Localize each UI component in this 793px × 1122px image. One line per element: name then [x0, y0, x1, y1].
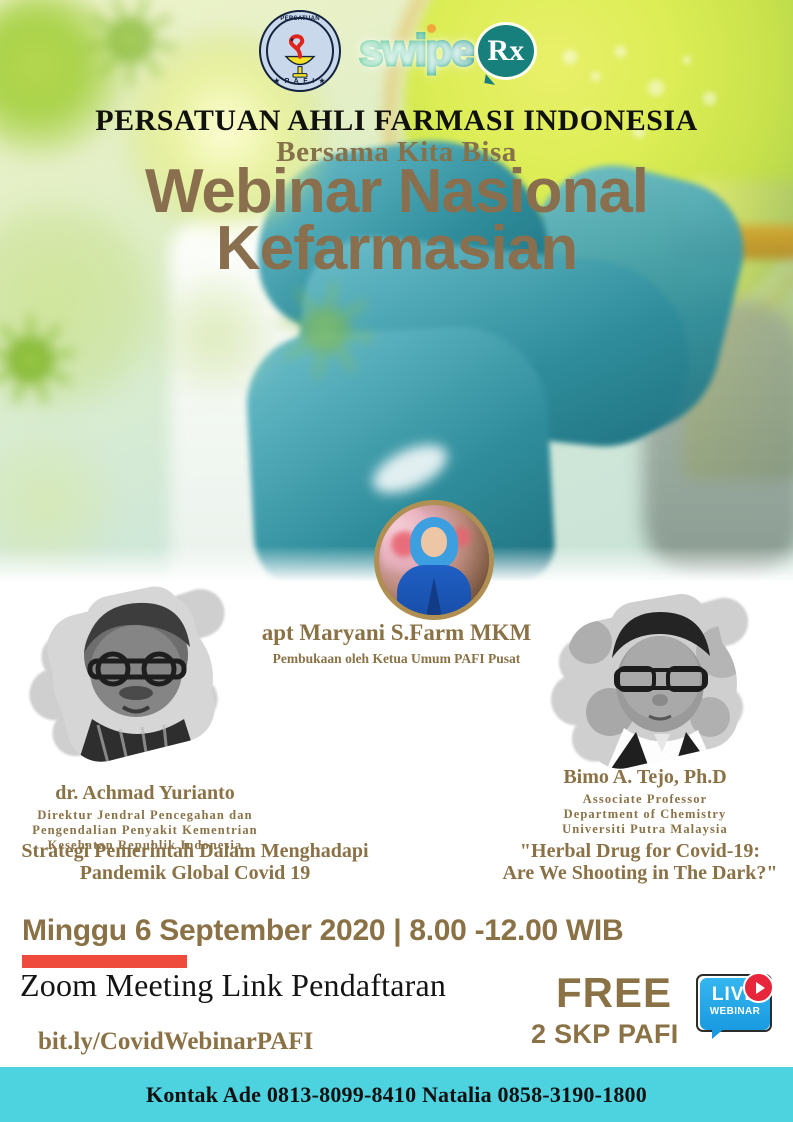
organization-name: PERSATUAN AHLI FARMASI INDONESIA: [0, 104, 793, 138]
swipe-text: swipe: [359, 26, 474, 75]
speaker-photo-left: [28, 583, 243, 768]
badge-webinar-text: WEBINAR: [700, 1007, 770, 1017]
logo-row: PERSATUAN ★ P A F I ★ swipe Rx: [0, 6, 793, 96]
speaker-topic-right: "Herbal Drug for Covid-19: Are We Shooti…: [430, 840, 793, 884]
speaker-name-right: Bimo A. Tejo, Ph.D: [480, 766, 793, 789]
play-icon: [743, 972, 774, 1003]
avatar: [374, 500, 494, 620]
platform-label: Zoom Meeting Link Pendaftaran: [20, 967, 446, 1004]
price-label: FREE: [556, 969, 672, 1017]
rx-speech-bubble-icon: Rx: [478, 25, 534, 77]
pafi-logo: PERSATUAN ★ P A F I ★: [259, 10, 341, 92]
center-speaker-avatar: [374, 500, 484, 610]
brush-mask: [550, 592, 765, 777]
credits-label: 2 SKP PAFI: [531, 1019, 679, 1050]
avatar-face: [421, 527, 447, 557]
swiperx-logo: swipe Rx: [359, 25, 534, 77]
speaker-portrait-left: [28, 583, 243, 768]
event-datetime: Minggu 6 September 2020 | 8.00 -12.00 WI…: [22, 914, 623, 948]
speaker-name-left: dr. Achmad Yurianto: [0, 782, 310, 805]
title-line-2: Kefarmasian: [0, 219, 793, 280]
rx-text: Rx: [488, 36, 525, 66]
speaker-portrait-right: [550, 592, 765, 777]
coronavirus-icon: [0, 300, 90, 420]
registration-link[interactable]: bit.ly/CovidWebinarPAFI: [38, 1028, 313, 1056]
brush-mask: [28, 583, 243, 768]
speaker-affiliation-right: Associate Professor Department of Chemis…: [480, 792, 793, 836]
contact-text: Kontak Ade 0813-8099-8410 Natalia 0858-3…: [146, 1082, 647, 1108]
speaker-topic-left: Strategi Pemerintah Dalam Menghadapi Pan…: [0, 840, 405, 884]
webinar-poster: PERSATUAN ★ P A F I ★ swipe Rx PERSATUAN…: [0, 0, 793, 1122]
swipe-wordmark: swipe: [359, 26, 474, 76]
pafi-ring-text-top: PERSATUAN: [261, 16, 339, 22]
bowl-of-hygieia-icon: [278, 33, 322, 79]
swipe-i-dot: [427, 24, 436, 33]
speaker-photo-right: [550, 592, 765, 777]
page-title: Webinar Nasional Kefarmasian: [0, 162, 793, 280]
contact-band: Kontak Ade 0813-8099-8410 Natalia 0858-3…: [0, 1067, 793, 1122]
live-webinar-badge: LIVE WEBINAR: [694, 972, 776, 1038]
